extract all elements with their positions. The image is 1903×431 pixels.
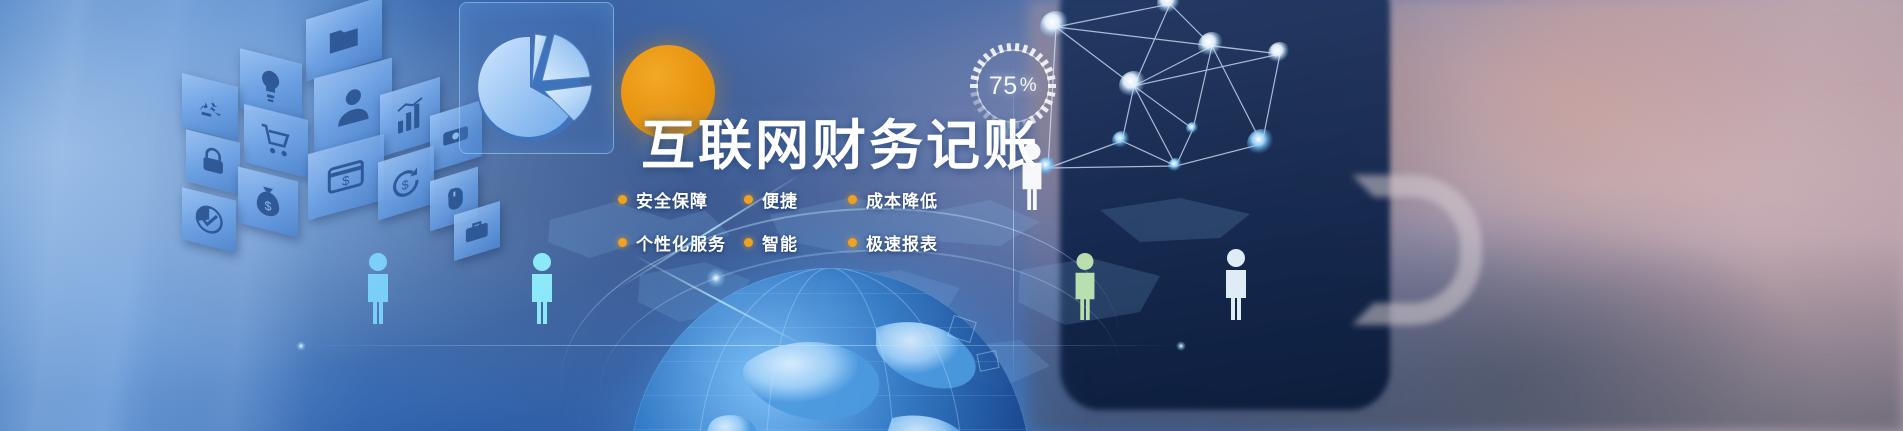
node-dot — [1176, 341, 1186, 351]
person-icon — [360, 252, 396, 324]
light-spark — [706, 268, 726, 288]
svg-text:$: $ — [264, 198, 271, 215]
bullet-dot-icon — [618, 195, 627, 204]
feature-item-personalized-service: 个性化服务 — [618, 230, 744, 255]
divider-line-horizontal — [300, 345, 1180, 346]
person-icon — [1068, 252, 1102, 320]
feature-list: 安全保障 便捷 成本降低 个性化服务 智能 极速报表 — [618, 178, 978, 264]
feature-label: 个性化服务 — [636, 230, 726, 255]
bullet-dot-icon — [618, 238, 627, 247]
feature-item-cost-reduction: 成本降低 — [848, 187, 978, 212]
money-bag-icon: $ — [238, 167, 298, 238]
pie-check-icon — [182, 187, 236, 252]
feature-item-security: 安全保障 — [618, 187, 744, 212]
node-dot — [296, 341, 306, 351]
bullet-dot-icon — [744, 238, 753, 247]
page-title: 互联网财务记账 — [641, 101, 1040, 180]
feature-item-intelligent: 智能 — [744, 230, 848, 255]
refresh-dollar-icon: $ — [378, 145, 434, 220]
person-icon — [524, 252, 560, 324]
pie-chart-icon — [468, 9, 608, 149]
bullet-dot-icon — [848, 238, 857, 247]
node-network-icon — [1030, 0, 1310, 184]
svg-text:$: $ — [342, 172, 350, 189]
feature-label: 成本降低 — [866, 187, 938, 212]
feature-label: 安全保障 — [636, 187, 708, 212]
svg-text:$: $ — [402, 176, 409, 193]
marketing-banner: $ $ $ — [0, 0, 1903, 431]
feature-label: 极速报表 — [866, 230, 938, 255]
icon-cube: $ $ $ — [168, 4, 498, 254]
pie-chart-panel — [459, 2, 614, 154]
person-icon — [1015, 142, 1049, 210]
divider-line-vertical — [1013, 60, 1014, 390]
person-icon — [1218, 248, 1254, 320]
feature-label: 便捷 — [762, 187, 798, 212]
feature-label: 智能 — [762, 230, 798, 255]
bullet-dot-icon — [848, 195, 857, 204]
feature-item-fast-reports: 极速报表 — [848, 230, 978, 255]
